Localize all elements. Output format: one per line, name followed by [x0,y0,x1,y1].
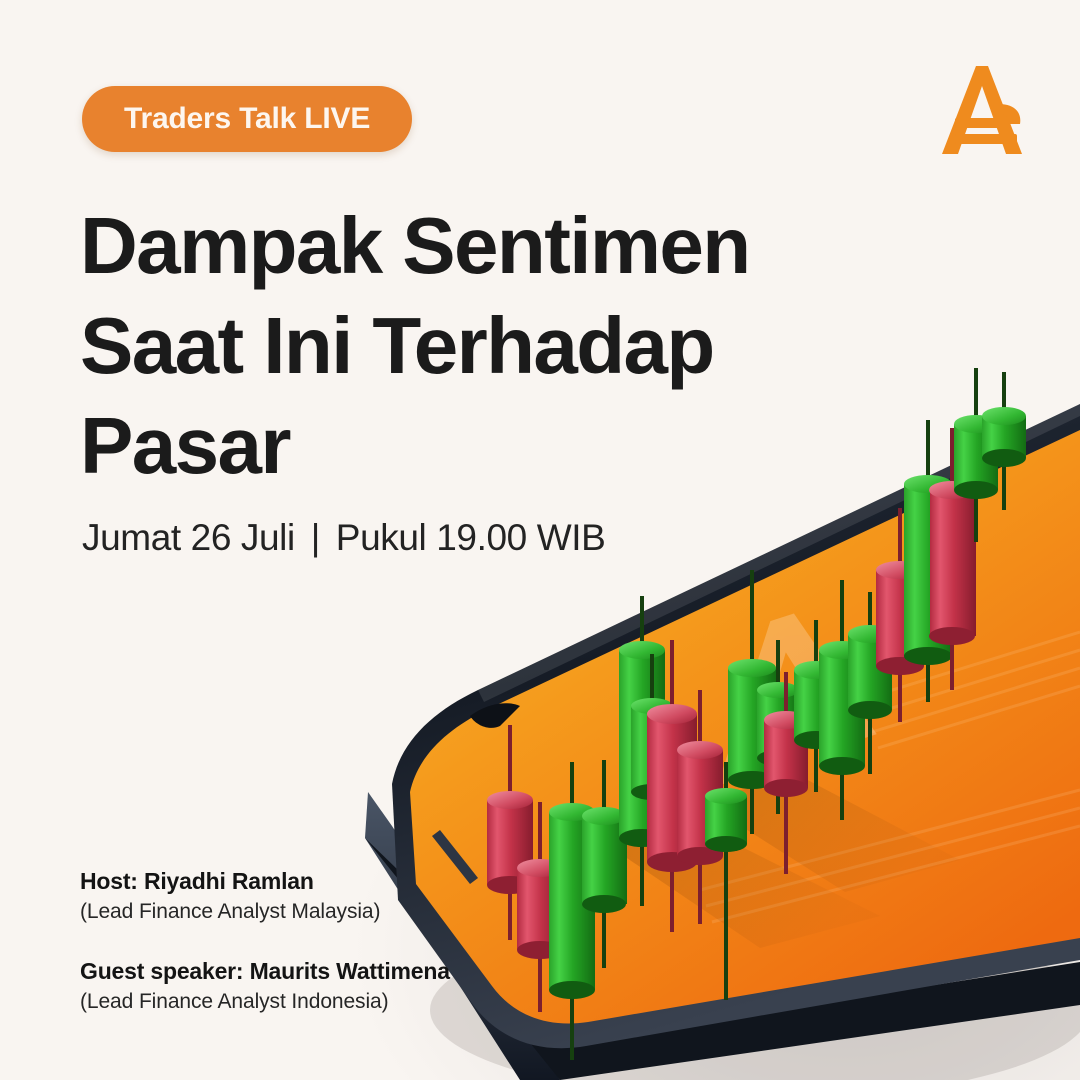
candle-bullish [848,592,892,774]
schedule-line: Jumat 26 Juli | Pukul 19.00 WIB [82,517,605,559]
headline-line-1: Dampak Sentimen [80,196,840,296]
candle-bullish [982,372,1026,510]
schedule-separator: | [305,517,326,559]
candle-bearish [876,508,924,722]
candle-bullish [728,570,776,834]
candle-bearish [764,672,808,874]
live-badge: Traders Talk LIVE [82,86,412,152]
page-title: Dampak Sentimen Saat Ini Terhadap Pasar [80,196,840,496]
a-monogram-logo-icon [936,62,1028,158]
candle-bullish [954,368,998,542]
promo-poster: Traders Talk LIVE Dampak Sentimen Saat I… [0,0,1080,1080]
credit-host-name: Host: Riyadhi Ramlan [80,868,600,895]
headline-line-3: Pasar [80,396,840,496]
schedule-time: Pukul 19.00 WIB [336,517,606,558]
candle-bearish [647,640,697,932]
credit-guest: Guest speaker: Maurits Wattimena (Lead F… [80,958,600,1014]
candle-bearish [929,428,976,690]
candle-bearish [677,690,723,924]
candle-bullish [757,640,799,814]
credit-host: Host: Riyadhi Ramlan (Lead Finance Analy… [80,868,600,924]
headline-line-2: Saat Ini Terhadap [80,296,840,396]
candle-bullish [705,762,747,1000]
candle-bullish [819,580,865,820]
candle-bullish [619,596,665,906]
credits: Host: Riyadhi Ramlan (Lead Finance Analy… [80,868,600,1048]
candle-bullish [794,620,838,792]
schedule-date: Jumat 26 Juli [82,517,295,558]
candle-bullish [631,654,673,858]
credit-guest-role: (Lead Finance Analyst Indonesia) [80,990,600,1014]
live-badge-label: Traders Talk LIVE [124,102,370,136]
credit-guest-name: Guest speaker: Maurits Wattimena [80,958,600,985]
credit-host-role: (Lead Finance Analyst Malaysia) [80,900,600,924]
candle-bullish [904,420,952,702]
